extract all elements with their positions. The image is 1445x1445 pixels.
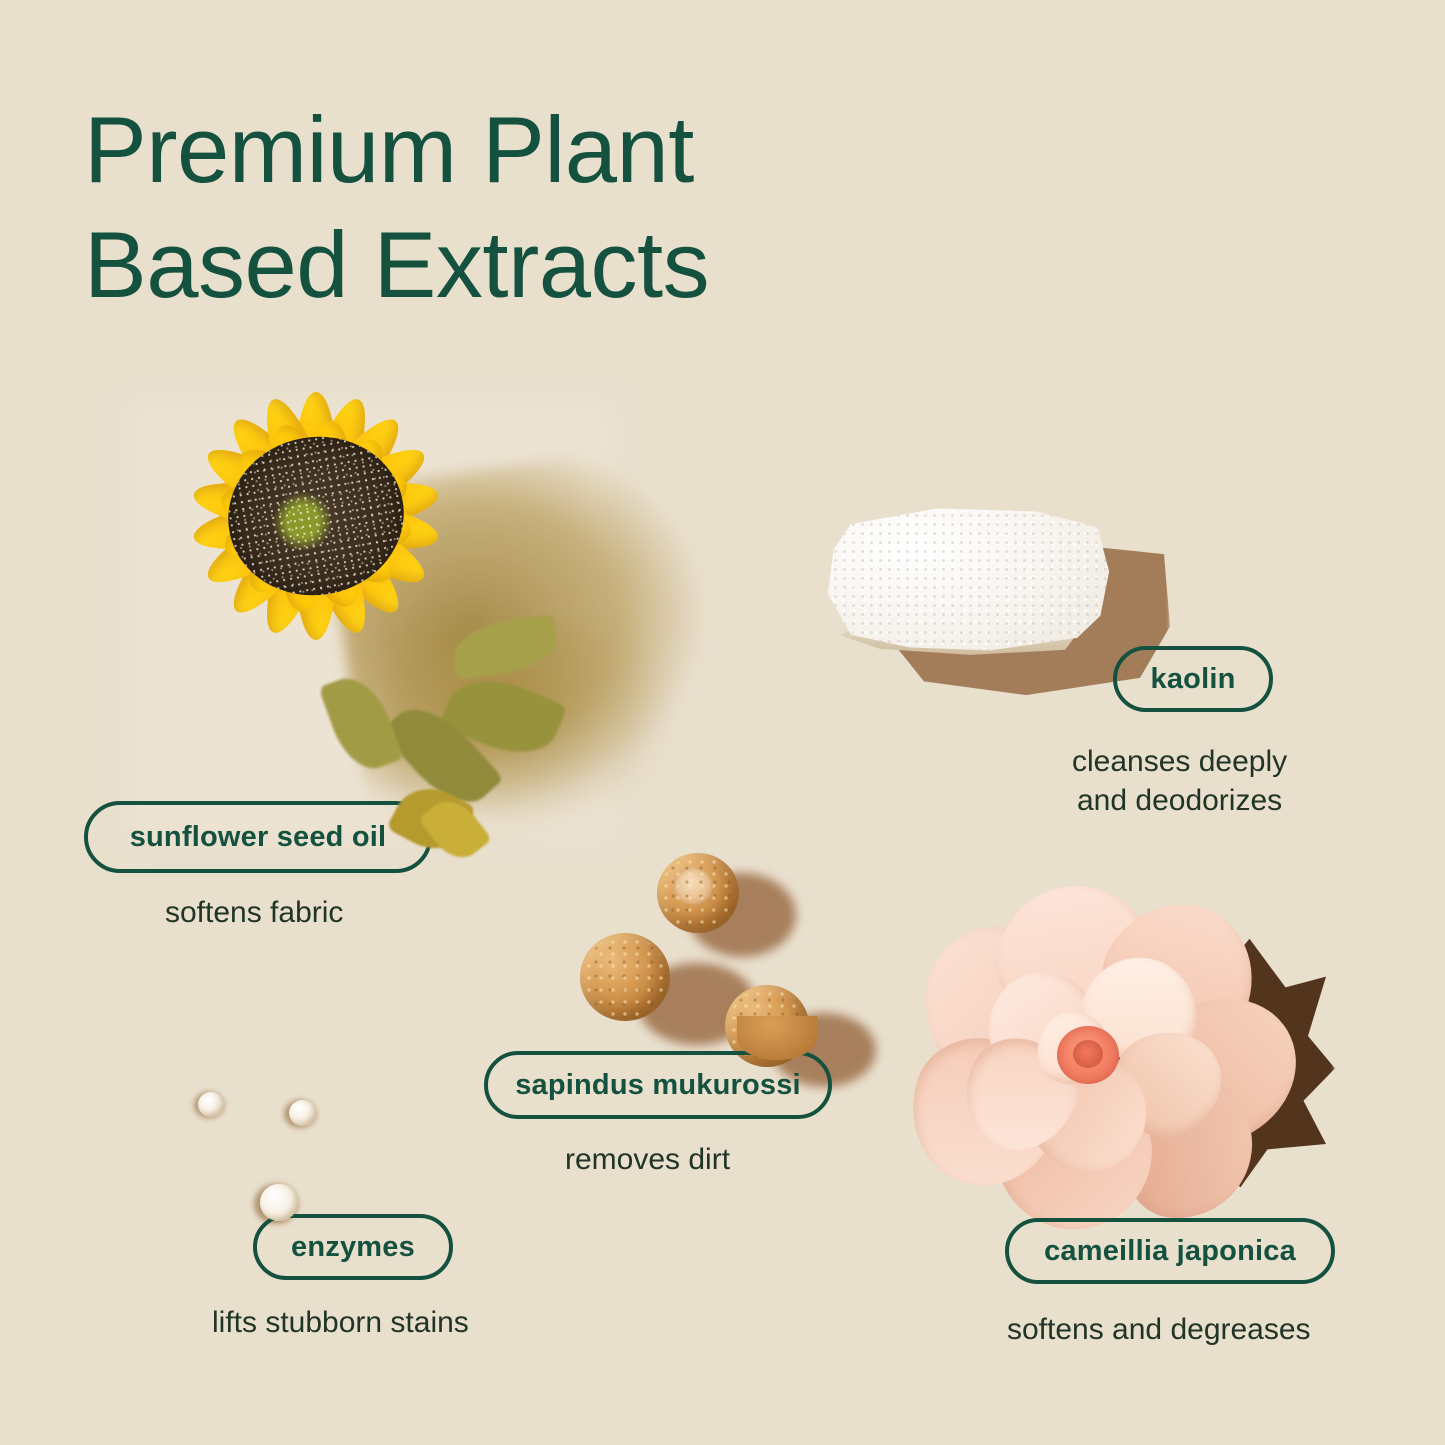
ingredient-caption-cameillia-japonica: softens and degreases xyxy=(1007,1310,1311,1349)
ingredient-caption-sapindus-mukurossi: removes dirt xyxy=(565,1140,730,1179)
ingredient-pill-kaolin[interactable]: kaolin xyxy=(1113,646,1273,712)
ingredient-pill-enzymes[interactable]: enzymes xyxy=(253,1214,453,1280)
ingredient-caption-sunflower-seed-oil: softens fabric xyxy=(165,893,343,932)
ingredient-caption-enzymes: lifts stubborn stains xyxy=(212,1303,469,1342)
ingredient-caption-kaolin: cleanses deeply and deodorizes xyxy=(1072,742,1287,820)
enzyme-granule-overlap xyxy=(260,1184,298,1221)
enzyme-granule xyxy=(289,1100,316,1126)
ingredient-pill-cameillia-japonica[interactable]: cameillia japonica xyxy=(1005,1218,1335,1284)
soap-nut-overlap xyxy=(737,1016,817,1060)
enzyme-granule xyxy=(198,1092,224,1117)
camellia-flower-photo xyxy=(905,880,1325,1240)
soap-nut xyxy=(580,933,670,1021)
soap-nut-scar xyxy=(673,867,713,905)
ingredient-pill-sunflower-seed-oil[interactable]: sunflower seed oil xyxy=(84,801,432,873)
ingredient-pill-sapindus-mukurossi[interactable]: sapindus mukurossi xyxy=(484,1051,832,1119)
sunflower-head xyxy=(315,515,316,516)
camellia-center-inner xyxy=(1073,1040,1103,1068)
infographic-canvas: Premium Plant Based Extracts xyxy=(0,0,1445,1445)
kaolin-rock xyxy=(822,502,1112,660)
soap-nut xyxy=(657,853,739,933)
page-title: Premium Plant Based Extracts xyxy=(84,93,709,322)
